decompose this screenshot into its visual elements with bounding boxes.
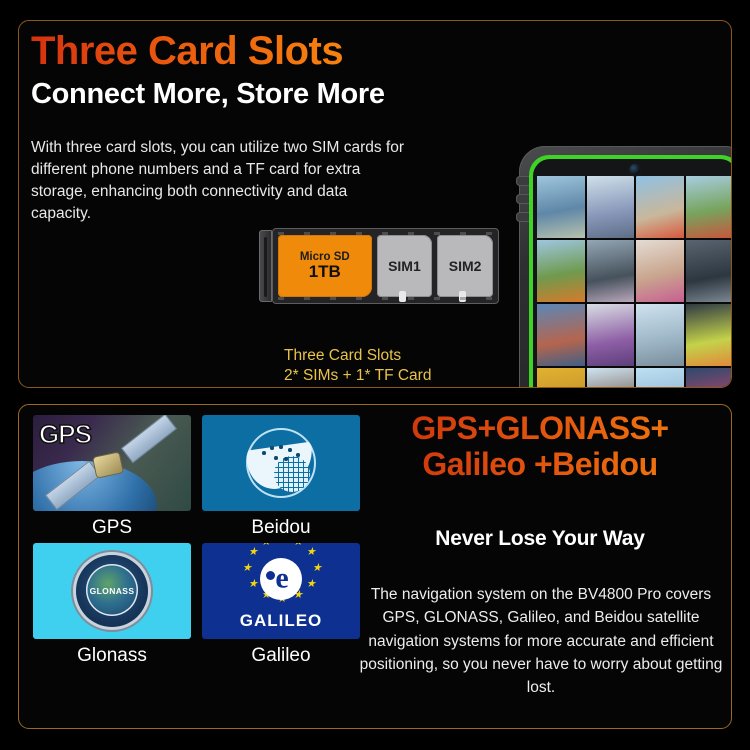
gallery-photo <box>636 304 684 366</box>
galileo-e-icon <box>260 558 302 600</box>
glonass-seal-icon: GLONASS <box>76 555 148 627</box>
galileo-badge-text: GALILEO <box>202 611 360 631</box>
galileo-logo-art: ★★ ★★ ★★ ★★ ★★ ★★ GALILEO <box>202 543 360 639</box>
micro-sd-card: Micro SD 1TB <box>278 235 372 297</box>
sim1-card: SIM1 <box>377 235 433 297</box>
promo-banner: Three Card Slots Connect More, Store Mor… <box>0 0 750 750</box>
gallery-photo <box>636 240 684 302</box>
gallery-photo <box>537 304 585 366</box>
navigation-description: The navigation system on the BV4800 Pro … <box>355 583 727 699</box>
beidou-logo-art <box>202 415 360 511</box>
tray-caption-line-2: 2* SIMs + 1* TF Card <box>284 366 431 386</box>
sim2-label: SIM2 <box>449 258 482 274</box>
micro-sd-label: Micro SD <box>300 251 350 263</box>
gallery-photo <box>587 368 635 388</box>
phone-bezel <box>533 159 732 388</box>
beidou-globe-icon <box>274 456 310 492</box>
gallery-photo <box>587 176 635 238</box>
card-slots-panel: Three Card Slots Connect More, Store Mor… <box>18 20 732 388</box>
gallery-photo <box>537 368 585 388</box>
tile-beidou-label: Beidou <box>202 517 360 539</box>
front-camera-icon <box>630 164 641 175</box>
sim2-card: SIM2 <box>437 235 493 297</box>
card-slots-description: With three card slots, you can utilize t… <box>31 137 411 225</box>
sim1-label: SIM1 <box>388 258 421 274</box>
gallery-photo <box>686 368 733 388</box>
sim-tray-illustration: Micro SD 1TB SIM1 SIM2 <box>259 228 499 308</box>
tile-glonass: GLONASS Glonass <box>33 543 191 673</box>
navigation-subtitle: Never Lose Your Way <box>359 527 721 551</box>
navigation-panel: GPS GPS <box>18 404 732 729</box>
satellite-tiles: GPS GPS <box>33 415 360 673</box>
tile-galileo: ★★ ★★ ★★ ★★ ★★ ★★ GALILEO Galileo <box>202 543 360 673</box>
navigation-title-line-1: GPS+GLONASS+ <box>411 410 668 446</box>
solar-panel-icon <box>121 415 177 463</box>
gps-badge-text: GPS <box>39 419 91 450</box>
gallery-photo <box>537 240 585 302</box>
gallery-photo <box>636 176 684 238</box>
gallery-photo <box>587 304 635 366</box>
tile-glonass-label: Glonass <box>33 645 191 667</box>
tile-gps-label: GPS <box>33 517 191 539</box>
navigation-title-line-2: Galileo +Beidou <box>422 446 657 482</box>
tile-beidou: Beidou <box>202 415 360 539</box>
tray-caption: Three Card Slots 2* SIMs + 1* TF Card <box>284 346 431 387</box>
tray-body: Micro SD 1TB SIM1 SIM2 <box>272 228 499 304</box>
sim2-notch-icon <box>459 291 466 302</box>
gallery-photo <box>636 368 684 388</box>
gallery-photo <box>686 176 733 238</box>
micro-sd-capacity: 1TB <box>309 263 341 282</box>
tray-caption-line-1: Three Card Slots <box>284 346 431 366</box>
gallery-photo <box>686 240 733 302</box>
tray-handle-icon <box>259 230 272 302</box>
glonass-emblem-art: GLONASS <box>33 543 191 639</box>
gallery-photo <box>537 176 585 238</box>
page-subtitle: Connect More, Store More <box>31 78 385 111</box>
photo-gallery-grid <box>537 176 732 388</box>
page-title: Three Card Slots <box>31 29 343 74</box>
tile-galileo-label: Galileo <box>202 645 360 667</box>
gallery-photo <box>686 304 733 366</box>
glonass-badge-text: GLONASS <box>76 586 148 596</box>
tile-gps: GPS GPS <box>33 415 191 539</box>
navigation-title: GPS+GLONASS+ Galileo +Beidou <box>359 411 721 483</box>
beidou-emblem-icon <box>246 428 316 498</box>
sim1-notch-icon <box>399 291 406 302</box>
phone-product-image <box>519 146 732 388</box>
gps-satellite-art: GPS <box>33 415 191 511</box>
beidou-stars-icon <box>260 445 304 461</box>
gallery-photo <box>587 240 635 302</box>
